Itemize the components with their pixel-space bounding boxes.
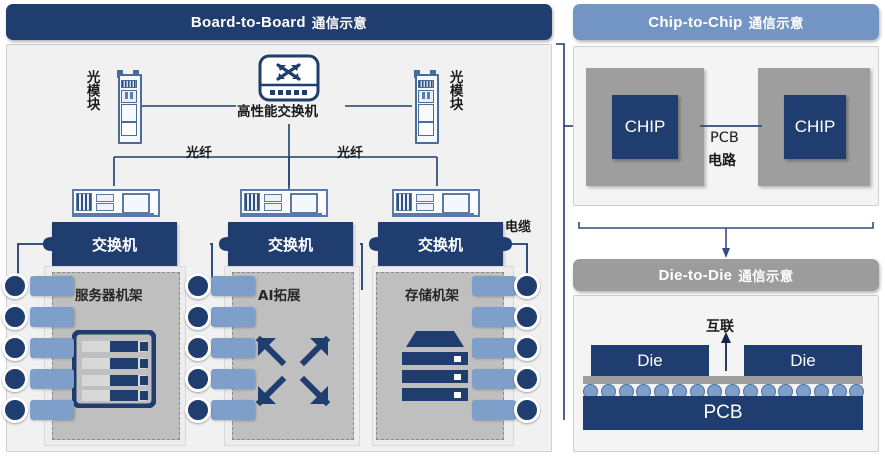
connector-pad: [211, 400, 255, 420]
connector-pad: [211, 369, 255, 389]
chip-to-chip-title-en: Chip-to-Chip: [648, 14, 742, 31]
connector-pad: [30, 338, 74, 358]
storage-stack-icon: [396, 325, 474, 408]
switch-line-icon-2: [240, 186, 324, 216]
connector-knob[interactable]: [514, 273, 540, 299]
connector-knob[interactable]: [514, 335, 540, 361]
chip-block-left: CHIP: [612, 95, 678, 159]
optical-module-icon-right: [412, 70, 438, 142]
connector-knob[interactable]: [185, 304, 211, 330]
switch-box-2: 交换机: [228, 222, 353, 266]
interposer-bar: [583, 376, 863, 384]
connector-pad: [472, 369, 516, 389]
die-block-right: Die: [744, 345, 862, 376]
die-to-die-title-cn: 通信示意: [738, 265, 793, 285]
pcb-substrate-bar: PCB: [583, 396, 863, 430]
die-block-left: Die: [591, 345, 709, 376]
interconnect-label: 互联: [706, 316, 734, 336]
optical-module-label-right: 光模块: [447, 70, 462, 142]
core-switch-label: 高性能交换机: [237, 100, 318, 120]
connector-knob[interactable]: [2, 273, 28, 299]
rack-label-1: 服务器机架: [75, 284, 143, 304]
connector-pad: [30, 307, 74, 327]
board-to-board-title-cn: 通信示意: [312, 12, 367, 32]
fiber-label-right: 光纤: [337, 142, 363, 161]
connector-knob[interactable]: [514, 304, 540, 330]
connector-knob[interactable]: [2, 397, 28, 423]
server-stack-icon: [72, 330, 156, 413]
board-to-board-title-en: Board-to-Board: [191, 14, 306, 31]
connector-knob[interactable]: [185, 335, 211, 361]
connector-knob[interactable]: [185, 397, 211, 423]
expand-arrows-icon: [250, 330, 336, 415]
rack-label-2: AI拓展: [258, 284, 300, 304]
connector-knob[interactable]: [185, 273, 211, 299]
connector-pad: [211, 276, 255, 296]
chip-to-chip-header: Chip-to-Chip 通信示意: [573, 4, 879, 40]
connector-pad: [472, 307, 516, 327]
die-to-die-header: Die-to-Die 通信示意: [573, 259, 879, 291]
connector-knob[interactable]: [514, 397, 540, 423]
connector-pad: [472, 338, 516, 358]
board-to-board-header: Board-to-Board 通信示意: [6, 4, 552, 40]
die-to-die-title-en: Die-to-Die: [658, 267, 732, 284]
fiber-label-left: 光纤: [186, 142, 212, 161]
switch-line-icon-3: [392, 186, 476, 216]
connector-pad: [30, 369, 74, 389]
cable-label: 电缆: [505, 216, 531, 235]
connector-knob[interactable]: [2, 335, 28, 361]
pcb-trace-label-line1: PCB: [710, 130, 739, 146]
diagram-root: Board-to-Board 通信示意: [0, 0, 885, 457]
chip-block-right: CHIP: [784, 95, 846, 159]
connector-pad: [472, 400, 516, 420]
switch-line-icon-1: [72, 186, 156, 216]
switch-box-3: 交换机: [378, 222, 503, 266]
chip-to-chip-title-cn: 通信示意: [749, 12, 804, 32]
connector-knob[interactable]: [185, 366, 211, 392]
optical-module-label-left: 光模块: [84, 70, 99, 142]
high-performance-switch-icon: [258, 54, 320, 104]
rack-label-3: 存储机架: [405, 284, 459, 304]
switch-box-1: 交换机: [52, 222, 177, 266]
connector-knob[interactable]: [2, 366, 28, 392]
optical-module-icon-left: [115, 70, 141, 142]
pcb-trace-label-line2: 电路: [708, 150, 736, 170]
connector-knob[interactable]: [514, 366, 540, 392]
connector-knob[interactable]: [2, 304, 28, 330]
connector-pad: [30, 276, 74, 296]
connector-pad: [472, 276, 516, 296]
connector-pad: [30, 400, 74, 420]
connector-pad: [211, 307, 255, 327]
connector-pad: [211, 338, 255, 358]
